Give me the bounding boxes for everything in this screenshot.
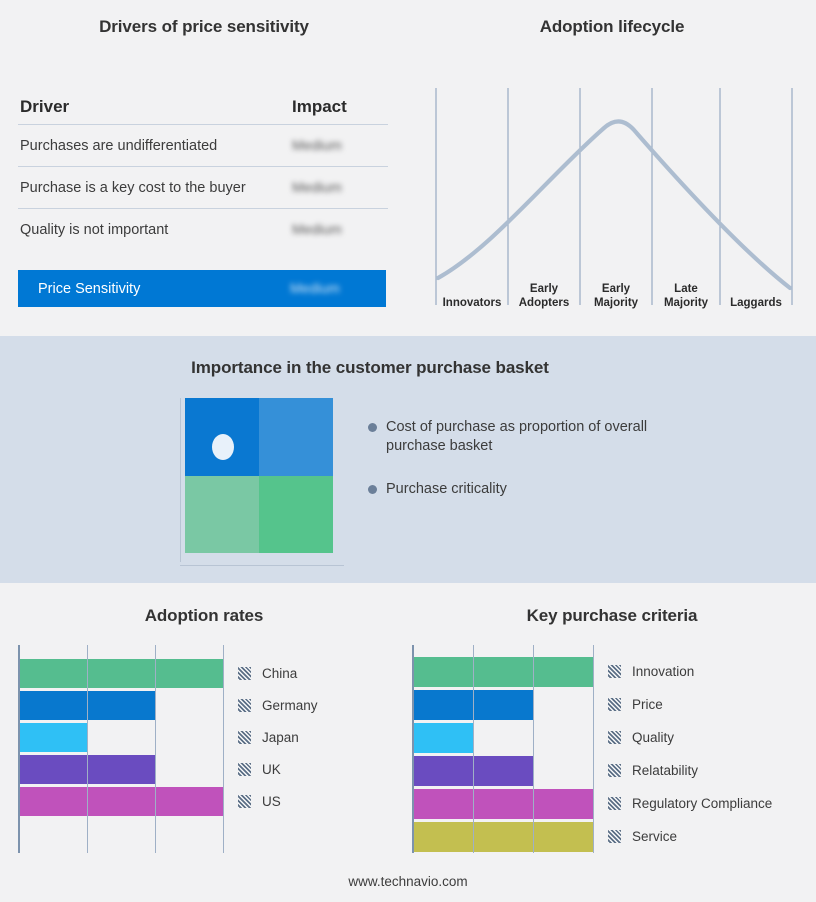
legend-label: US [262, 794, 281, 809]
hatched-swatch-icon [238, 763, 251, 776]
key-purchase-criteria-chart: InnovationPriceQualityRelatabilityRegula… [412, 645, 808, 853]
table-header-row: Driver Impact [18, 90, 388, 125]
quadrant-cell-bottom-right [259, 476, 333, 554]
driver-label: Quality is not important [18, 222, 292, 238]
impact-value-blurred: Medium [292, 137, 342, 153]
hatched-swatch-icon [608, 764, 621, 777]
adoption-rates-title: Adoption rates [0, 606, 408, 626]
bar [414, 690, 534, 720]
table-row: Quality is not important Medium [18, 209, 388, 250]
legend-item: UK [238, 762, 281, 777]
key-purchase-criteria-bars [414, 645, 594, 853]
legend-item: Service [608, 829, 677, 844]
hatched-swatch-icon [608, 797, 621, 810]
bar [20, 755, 156, 784]
lifecycle-stage-late-majority: Late Majority [652, 283, 720, 310]
adoption-rates-chart: ChinaGermanyJapanUKUS [18, 645, 398, 853]
lifecycle-stage-early-adopters: Early Adopters [508, 283, 580, 310]
bullet-dot-icon [368, 485, 377, 494]
legend-label: China [262, 666, 297, 681]
bar [414, 756, 534, 786]
legend-item: Japan [238, 730, 299, 745]
stage-line2: Majority [664, 297, 708, 309]
bar [20, 787, 224, 816]
bar [20, 659, 224, 688]
legend-item-purchase-criticality: Purchase criticality [368, 480, 698, 499]
legend-label: Innovation [632, 664, 694, 679]
hatched-swatch-icon [238, 731, 251, 744]
adoption-rates-bars [20, 645, 224, 853]
lifecycle-stage-labels: Innovators Early Adopters Early Majority… [432, 80, 796, 312]
quadrant-x-axis [180, 565, 344, 566]
legend-item: Price [608, 697, 663, 712]
stage-line1: Late [674, 283, 698, 295]
lifecycle-panel: Adoption lifecycle Innovators Earl [408, 0, 816, 336]
impact-value: Medium [292, 221, 388, 238]
hatched-swatch-icon [238, 699, 251, 712]
impact-value-blurred: Medium [292, 221, 342, 237]
driver-label: Purchases are undifferentiated [18, 138, 292, 154]
basket-legend: Cost of purchase as proportion of overal… [368, 418, 698, 523]
adoption-rates-plot [18, 645, 224, 853]
highlight-driver-label: Price Sensitivity [18, 281, 290, 297]
hatched-swatch-icon [608, 698, 621, 711]
lifecycle-stage-laggards: Laggards [720, 297, 792, 311]
legend-item: China [238, 666, 297, 681]
stage-line1: Innovators [443, 297, 502, 309]
hatched-swatch-icon [238, 667, 251, 680]
drivers-table: Driver Impact Purchases are undifferenti… [18, 90, 388, 250]
hatched-swatch-icon [238, 795, 251, 808]
legend-item: Quality [608, 730, 674, 745]
impact-value: Medium [292, 137, 388, 154]
bullet-dot-icon [368, 423, 377, 432]
infographic-page: Drivers of price sensitivity Driver Impa… [0, 0, 816, 902]
hatched-swatch-icon [608, 731, 621, 744]
stage-line1: Early [530, 283, 558, 295]
gridline [473, 645, 474, 853]
basket-panel: Importance in the customer purchase bask… [0, 336, 816, 583]
impact-value-blurred: Medium [292, 179, 342, 195]
legend-item: Relatability [608, 763, 698, 778]
gridline [87, 645, 88, 853]
legend-item: Innovation [608, 664, 694, 679]
key-purchase-criteria-legend: InnovationPriceQualityRelatabilityRegula… [608, 645, 808, 853]
legend-label: Price [632, 697, 663, 712]
stage-line1: Laggards [730, 297, 782, 309]
column-header-driver: Driver [18, 97, 292, 117]
bar [20, 723, 88, 752]
legend-label: Quality [632, 730, 674, 745]
bar [414, 657, 594, 687]
stage-line1: Early [602, 283, 630, 295]
lifecycle-stage-innovators: Innovators [436, 297, 508, 311]
legend-item: Regulatory Compliance [608, 796, 772, 811]
stage-line2: Majority [594, 297, 638, 309]
footer-url: www.technavio.com [0, 874, 816, 889]
stage-line2: Adopters [519, 297, 569, 309]
gridline [155, 645, 156, 853]
adoption-rates-legend: ChinaGermanyJapanUKUS [238, 645, 398, 853]
key-purchase-criteria-title: Key purchase criteria [408, 606, 816, 626]
legend-label: Japan [262, 730, 299, 745]
hatched-swatch-icon [608, 830, 621, 843]
highlight-impact-blurred: Medium [290, 280, 340, 296]
bar [414, 723, 474, 753]
quadrant-cell-top-right [259, 398, 333, 476]
legend-item: Germany [238, 698, 318, 713]
lifecycle-stage-early-majority: Early Majority [580, 283, 652, 310]
gridline [533, 645, 534, 853]
gridline [593, 645, 594, 853]
bar [20, 691, 156, 720]
quadrant-grid [185, 398, 333, 553]
legend-label: Service [632, 829, 677, 844]
impact-value: Medium [292, 179, 388, 196]
legend-item: US [238, 794, 281, 809]
bar [414, 789, 594, 819]
bar [414, 822, 594, 852]
legend-label: Germany [262, 698, 318, 713]
driver-label: Purchase is a key cost to the buyer [18, 180, 292, 196]
basket-title: Importance in the customer purchase bask… [0, 358, 740, 378]
quadrant-position-marker [212, 434, 234, 460]
table-row: Purchase is a key cost to the buyer Medi… [18, 167, 388, 209]
drivers-title: Drivers of price sensitivity [0, 17, 408, 37]
lifecycle-title: Adoption lifecycle [408, 17, 816, 37]
legend-label: UK [262, 762, 281, 777]
legend-label: Regulatory Compliance [632, 796, 772, 811]
price-sensitivity-highlight-row: Price Sensitivity Medium [18, 270, 386, 307]
lifecycle-chart: Innovators Early Adopters Early Majority… [432, 80, 796, 312]
legend-label: Cost of purchase as proportion of overal… [386, 418, 648, 456]
legend-item-cost-of-purchase: Cost of purchase as proportion of overal… [368, 418, 698, 456]
hatched-swatch-icon [608, 665, 621, 678]
highlight-impact-value: Medium [290, 280, 386, 297]
key-purchase-criteria-plot [412, 645, 594, 853]
legend-label: Relatability [632, 763, 698, 778]
table-row: Purchases are undifferentiated Medium [18, 125, 388, 167]
quadrant-y-axis [180, 398, 181, 562]
quadrant-cell-bottom-left [185, 476, 259, 554]
legend-label: Purchase criticality [386, 480, 507, 499]
adoption-rates-panel: Adoption rates ChinaGermanyJapanUKUS [0, 583, 408, 902]
key-purchase-criteria-panel: Key purchase criteria InnovationPriceQua… [408, 583, 816, 902]
quadrant-chart [180, 398, 340, 566]
drivers-panel: Drivers of price sensitivity Driver Impa… [0, 0, 408, 336]
column-header-impact: Impact [292, 97, 388, 117]
gridline [223, 645, 224, 853]
